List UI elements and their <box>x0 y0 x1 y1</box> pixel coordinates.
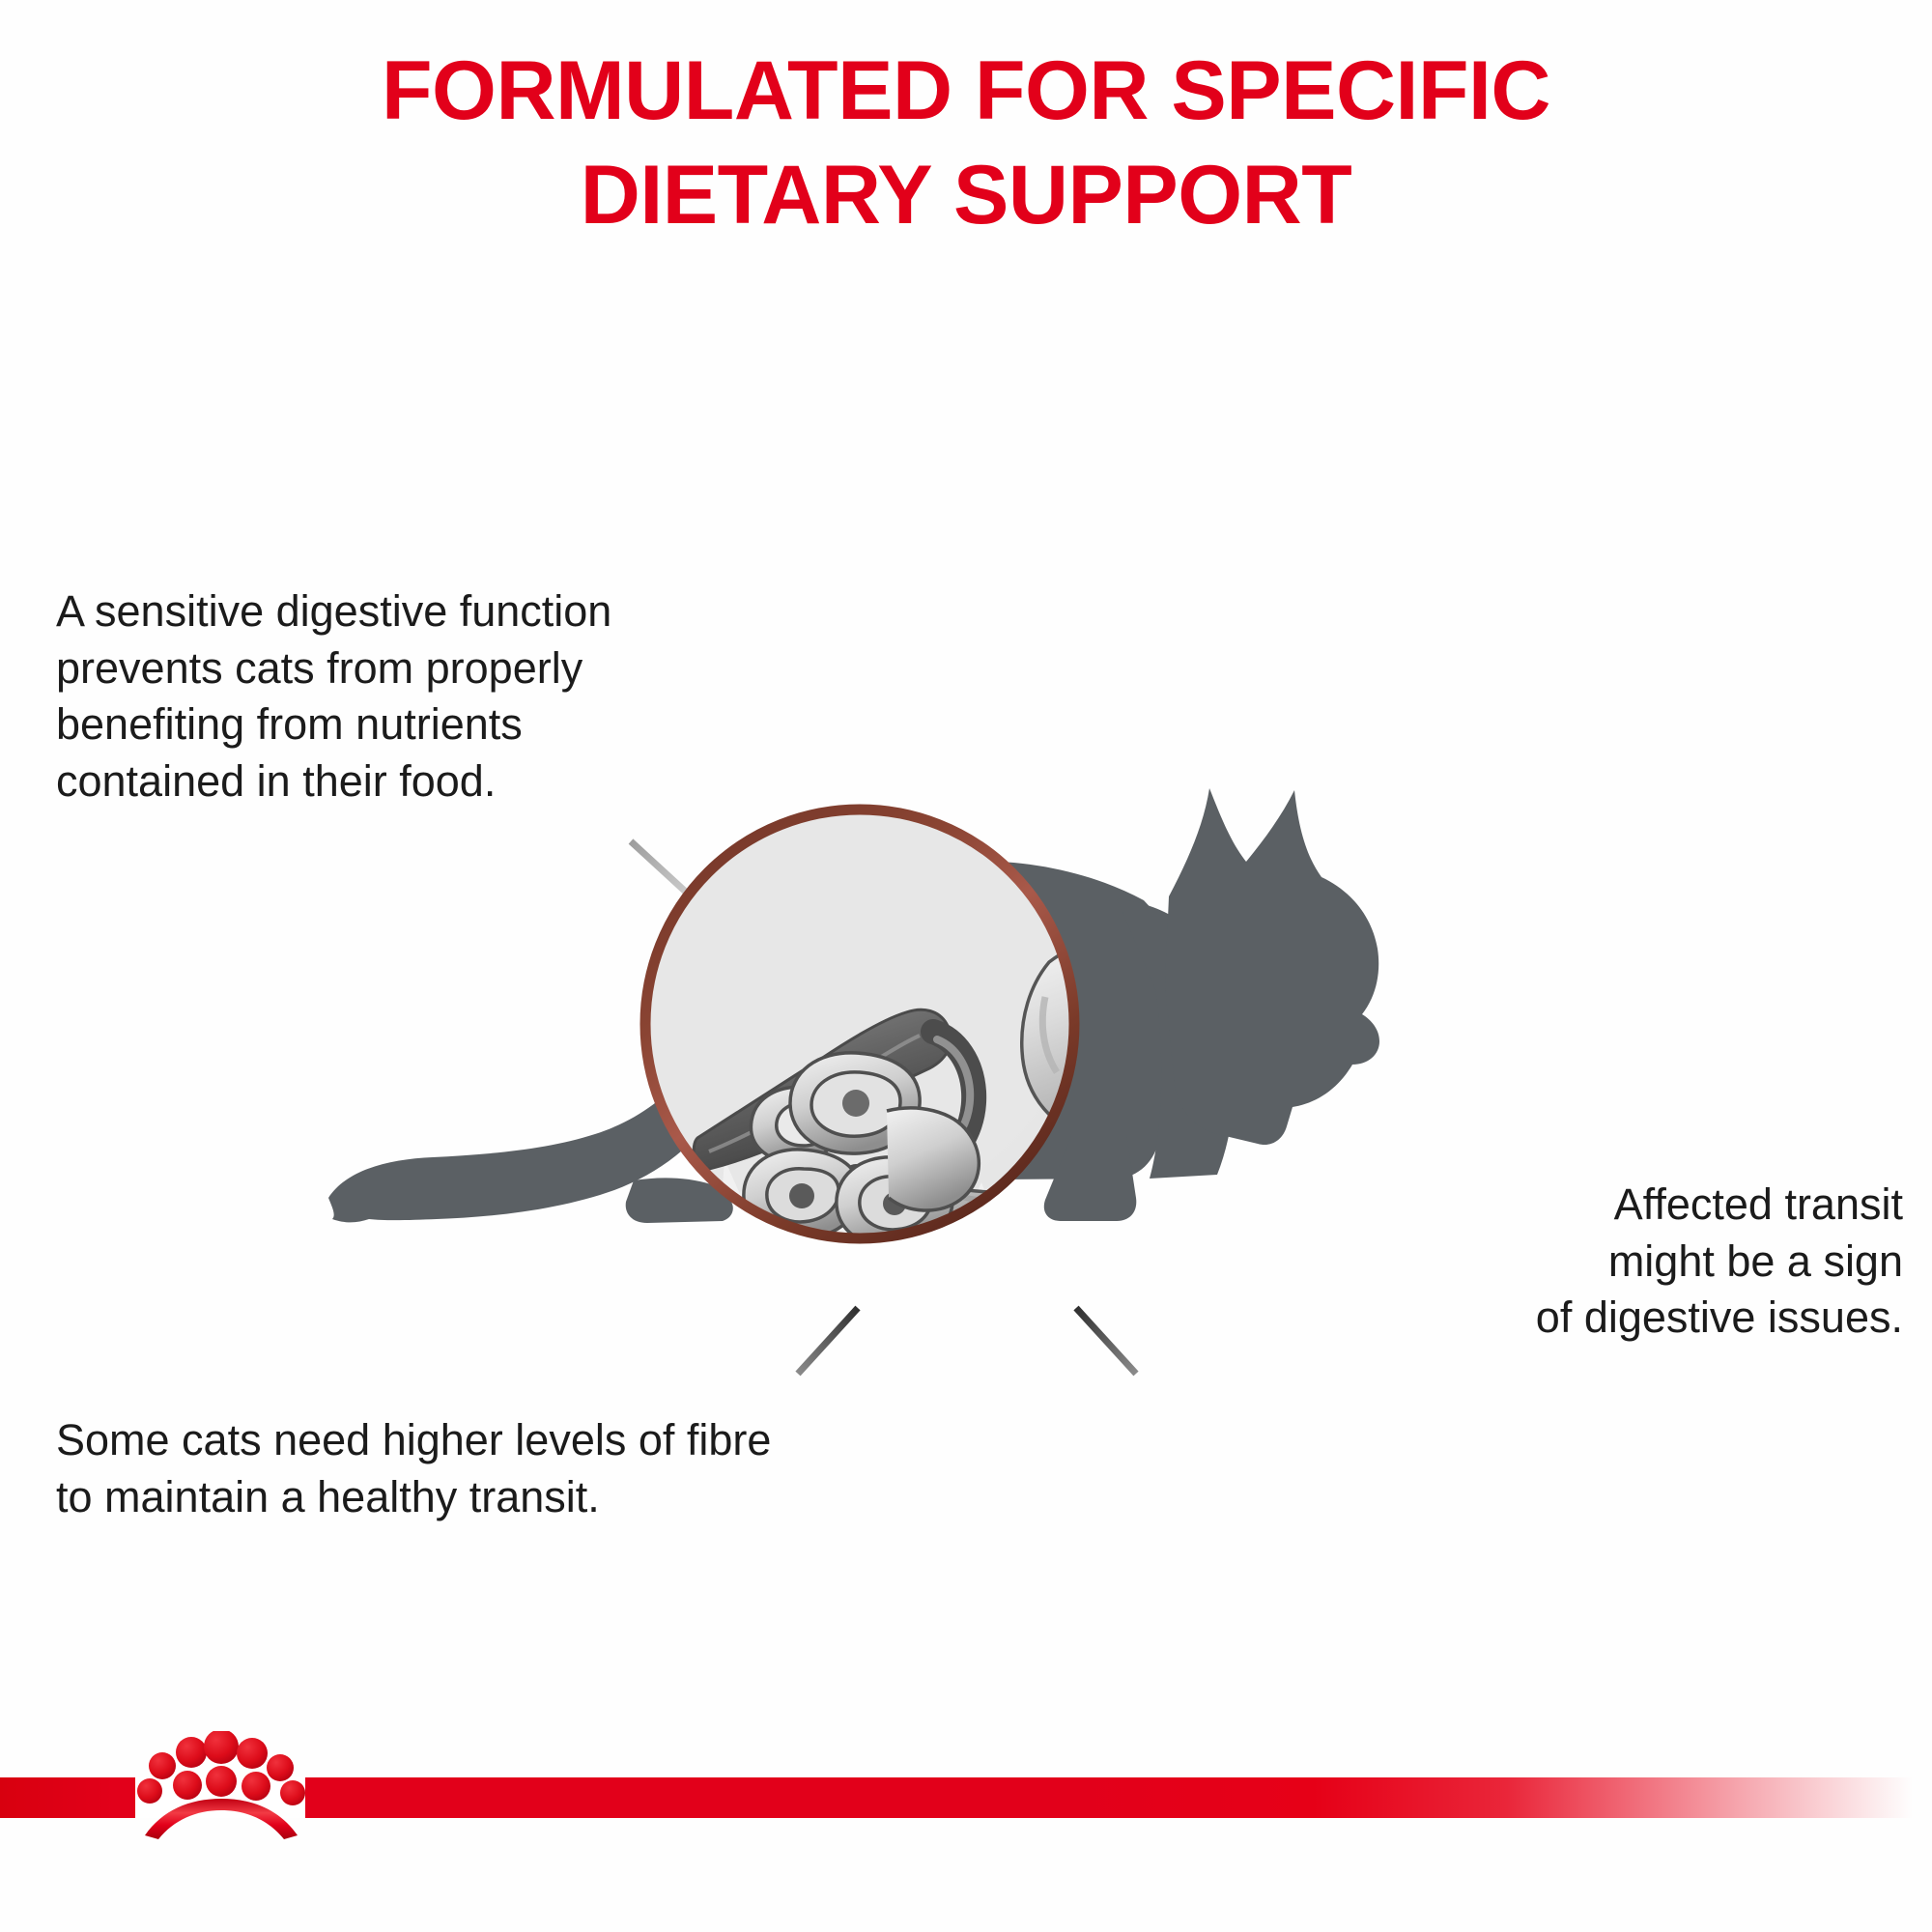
poster-canvas: FORMULATED FOR SPECIFIC DIETARY SUPPORT <box>0 0 1932 1932</box>
callout-line: to maintain a healthy transit. <box>56 1469 771 1526</box>
callout-line: of digestive issues. <box>1536 1290 1903 1347</box>
callout-line: prevents cats from properly <box>56 640 611 697</box>
callout-line: might be a sign <box>1536 1234 1903 1291</box>
cat-illustration <box>319 744 1430 1304</box>
callout-line: Some cats need higher levels of fibre <box>56 1412 771 1469</box>
page-title: FORMULATED FOR SPECIFIC DIETARY SUPPORT <box>116 39 1816 248</box>
callout-affected-transit: Affected transit might be a sign of dige… <box>1536 1177 1903 1347</box>
royal-canin-crown-icon <box>124 1731 317 1847</box>
headline-line-2: DIETARY SUPPORT <box>116 143 1816 247</box>
callout-line: Affected transit <box>1536 1177 1903 1234</box>
headline-line-1: FORMULATED FOR SPECIFIC <box>116 39 1816 143</box>
callout-line: A sensitive digestive function <box>56 583 611 640</box>
callout-higher-fibre-levels: Some cats need higher levels of fibre to… <box>56 1412 771 1525</box>
